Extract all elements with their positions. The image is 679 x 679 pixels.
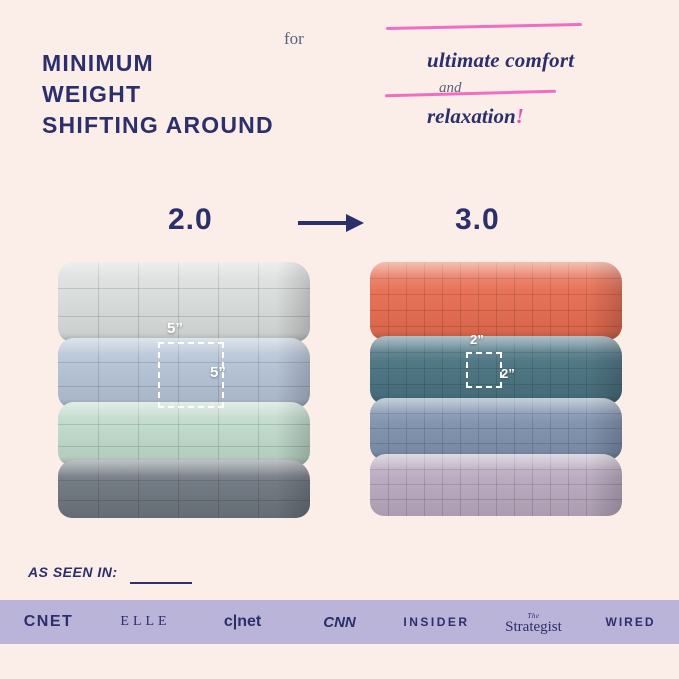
measure-box-right [466,352,502,388]
as-seen-in-label: AS SEEN IN: [28,564,118,580]
promo-graphic: MINIMUM WEIGHT SHIFTING AROUND for ultim… [0,0,679,679]
blanket-stack-left: 5” 5” [58,262,310,517]
headline-line-2: WEIGHT [42,79,274,110]
slate-blue-blanket [370,398,622,460]
headline-line-1: MINIMUM [42,48,274,79]
quilt-stitching [58,460,310,518]
headline-left: MINIMUM WEIGHT SHIFTING AROUND [42,48,274,141]
logo-cnet-bold: CNET [0,613,97,631]
arrow-right-icon [298,214,364,232]
logo-insider: INSIDER [388,615,485,629]
logo-elle: ELLE [97,614,194,630]
logo-cnn: CNN [291,614,388,631]
mint-green-blanket [58,402,310,466]
press-logo-bar: CNET ELLE c|net CNN INSIDER The Strategi… [0,600,679,644]
blanket-stack-right: 2” 2” [370,262,622,517]
light-gray-blanket [58,262,310,342]
lavender-blanket [370,454,622,516]
quilt-stitching [58,402,310,466]
measure-label-left-top: 5” [167,320,183,337]
as-seen-in-rule [130,582,192,584]
quilt-stitching [58,262,310,342]
version-label-right: 3.0 [455,203,500,237]
headline-relaxation: relaxation [427,104,516,129]
logo-wired: WIRED [582,615,679,629]
coral-blanket [370,262,622,340]
quilt-stitching [370,454,622,516]
measure-label-right-side: 2” [501,366,515,381]
logo-cnet-lower: c|net [194,613,291,631]
measure-label-right-top: 2” [470,332,484,347]
headline-right: ultimate comfort and relaxation! [427,48,667,129]
logo-strategist: The Strategist [485,611,582,633]
footer-space [0,644,679,679]
quilt-stitching [370,398,622,460]
dark-gray-blanket [58,460,310,518]
pink-underline-1 [386,23,582,30]
headline-ultimate-comfort: ultimate comfort [427,48,574,73]
version-label-left: 2.0 [168,203,213,237]
headline-connector: for [284,29,304,49]
headline-exclamation: ! [516,104,524,128]
measure-label-left-side: 5” [210,364,226,381]
headline-line-3: SHIFTING AROUND [42,110,274,141]
logo-strategist-word: Strategist [505,619,562,635]
quilt-stitching [370,262,622,340]
